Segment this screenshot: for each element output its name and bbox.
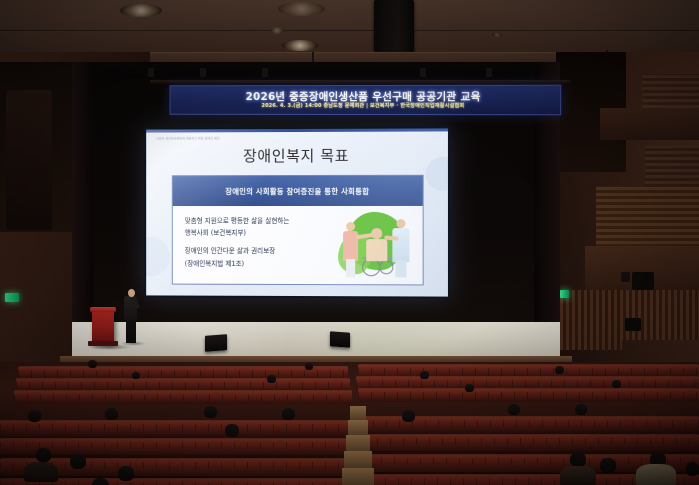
audience-shoulders: [24, 462, 58, 482]
slide-header-bar: 장애인의 사회활동 참여증진을 통한 사회통합: [173, 176, 423, 206]
person-body: [366, 239, 387, 261]
presenter-legs: [126, 319, 136, 343]
audience-head: [118, 466, 134, 481]
exit-sign-icon: [560, 290, 569, 298]
stage-lamp-icon: [486, 68, 492, 77]
slide-body-line: (장애인복지법 제1조): [185, 257, 334, 270]
audience-head: [600, 458, 616, 473]
stage-lamp-icon: [262, 68, 268, 77]
ceiling-light-icon: [270, 27, 284, 34]
ceiling-light-icon: [282, 40, 318, 51]
podium-top: [90, 307, 116, 312]
slide-decor-circle: [146, 237, 170, 277]
projection-screen: 다양한 복지환경변화에 대응하기 위한 장애인 복지 장애인복지 목표 장애인의…: [146, 128, 448, 296]
wall-speaker: [621, 272, 630, 282]
audience-head: [267, 375, 276, 383]
slide-top-accent-bar: [146, 128, 448, 132]
ceiling-light-icon: [120, 4, 162, 17]
aisle-step: [350, 406, 366, 420]
slide-content-box: 장애인의 사회활동 참여증진을 통한 사회통합 맞춤형 지원으로 평등한 삶을 …: [172, 175, 424, 286]
slide-body-line: 행복사회 (보건복지부): [185, 227, 334, 239]
audience-head: [508, 404, 520, 415]
stage-curtain-left: [72, 62, 94, 324]
hanging-speaker: [374, 0, 414, 52]
slide-body-text: 맞춤형 지원으로 평등한 삶을 실현하는 행복사회 (보건복지부) 장애인의 인…: [185, 215, 334, 276]
stage-floor-sheen: [72, 322, 560, 358]
slide-body-paragraph: 맞춤형 지원으로 평등한 삶을 실현하는 행복사회 (보건복지부): [185, 215, 334, 239]
podium: [92, 310, 114, 344]
audience-head: [612, 380, 621, 388]
left-wall-panel: [6, 90, 52, 230]
person-body: [392, 228, 409, 262]
person-legs: [395, 260, 406, 277]
seat-row: [14, 390, 352, 404]
audience-shoulders: [636, 464, 676, 485]
audience-head: [132, 372, 140, 379]
audience-head: [575, 404, 587, 415]
seat-row: [358, 388, 699, 402]
person-head: [396, 219, 405, 228]
ceiling: [0, 0, 699, 52]
projection-screen-frame: 다양한 복지환경변화에 대응하기 위한 장애인 복지 장애인복지 목표 장애인의…: [144, 126, 450, 298]
person-head: [346, 222, 355, 231]
audience-head: [225, 424, 239, 437]
person-legs: [346, 259, 355, 277]
ceiling-seam: [0, 30, 699, 31]
ceiling-light-icon: [492, 32, 502, 38]
lighting-rig: [100, 64, 530, 78]
audience-head: [465, 384, 474, 392]
slide-header-bar-text: 장애인의 사회활동 참여증진을 통한 사회통합: [225, 185, 369, 196]
presenter-head: [128, 289, 135, 297]
slide-body-line: 맞춤형 지원으로 평등한 삶을 실현하는: [185, 215, 334, 227]
aisle-step: [348, 420, 368, 435]
audience-head: [204, 406, 217, 418]
audience-head: [570, 452, 586, 467]
audience-head: [105, 408, 118, 420]
slide-title: 장애인복지 목표: [146, 145, 448, 167]
banner-mount-rail: [150, 80, 570, 84]
audience-head: [282, 408, 295, 420]
seat-row: [364, 434, 699, 451]
acoustic-panel: [560, 290, 622, 350]
podium-base: [88, 341, 118, 346]
stage-monitor-speaker: [330, 331, 350, 347]
slide-body-area: 맞춤형 지원으로 평등한 삶을 실현하는 행복사회 (보건복지부) 장애인의 인…: [173, 206, 423, 284]
audience-head: [420, 371, 429, 379]
auditorium-seating-area: [0, 362, 699, 485]
auditorium-photo: 2026년 중증장애인생산품 우선구매 공공기관 교육 2026. 4. 3.(…: [0, 0, 699, 485]
aisle-step: [342, 468, 374, 485]
wall-speaker: [632, 272, 654, 290]
audience-head: [402, 410, 415, 422]
slide-body-line: 장애인의 인간다운 삶과 권리보장: [185, 245, 334, 257]
event-banner: 2026년 중증장애인생산품 우선구매 공공기관 교육 2026. 4. 3.(…: [170, 85, 562, 116]
ceiling-light-icon: [278, 2, 325, 16]
people-with-wheelchair-illustration: [332, 208, 419, 282]
slide-kicker: 다양한 복지환경변화에 대응하기 위한 장애인 복지: [156, 136, 220, 140]
banner-subtitle: 2026. 4. 3.(금) 14:00 충남도청 문예회관 | 보건복지부 ·…: [171, 102, 561, 109]
audience-head: [70, 454, 86, 469]
audience-head: [36, 448, 51, 462]
audience-head: [88, 360, 97, 368]
seat-row: [0, 438, 350, 455]
wheelchair-wheel: [379, 260, 393, 274]
acoustic-panel: [600, 108, 699, 140]
aisle-step: [344, 451, 372, 468]
slide-body-paragraph: 장애인의 인간다운 삶과 권리보장 (장애인복지법 제1조): [185, 245, 334, 270]
acoustic-panel: [596, 186, 699, 250]
aisle-step: [346, 435, 370, 451]
acoustic-panel: [620, 290, 699, 340]
audience-head: [305, 363, 313, 370]
stage-lamp-icon: [200, 68, 206, 77]
exit-sign-icon: [5, 293, 19, 302]
seat-row: [0, 420, 352, 436]
audience-head: [555, 366, 564, 374]
stage-monitor-speaker: [205, 334, 227, 352]
audience-head: [28, 410, 41, 422]
audience-head: [92, 478, 109, 485]
stage-lamp-icon: [420, 68, 426, 77]
audience-head: [686, 462, 699, 476]
wall-speaker: [625, 318, 641, 331]
audience-shoulders: [560, 466, 596, 485]
stage-lamp-icon: [148, 68, 154, 77]
